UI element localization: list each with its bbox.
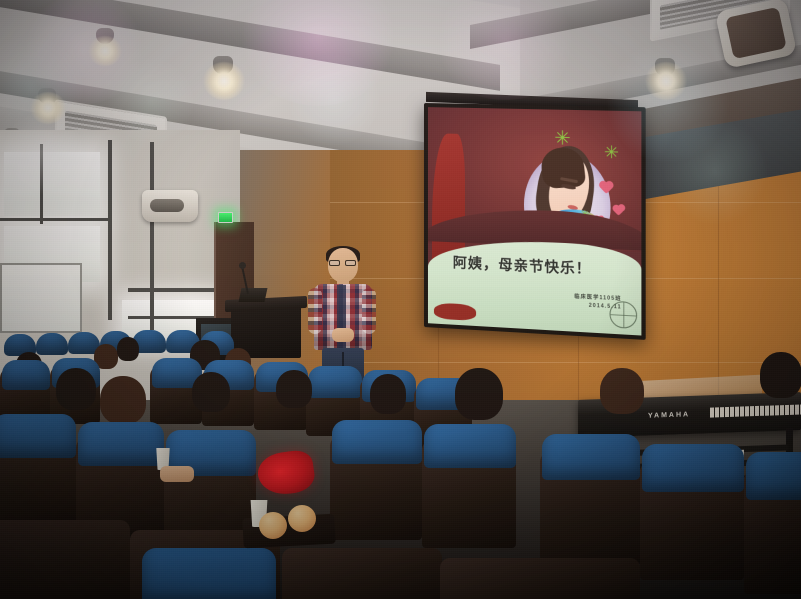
piano-brand-label: YAMAHA (648, 411, 690, 419)
seat-back (332, 420, 422, 464)
exit-sign-icon (218, 212, 233, 223)
audience-head (370, 374, 406, 414)
seat-back (424, 424, 516, 468)
slide-seal-icon (609, 301, 637, 329)
peach (259, 512, 287, 539)
audience-head (455, 368, 503, 420)
glasses-icon (329, 260, 357, 266)
seat-back (36, 333, 68, 355)
seat-back (542, 434, 640, 480)
seat-back (78, 422, 164, 466)
lecture-hall-photo: ✳ ✳ ✳ ✳ 阿姨，母亲节快乐！ 临床医学1105班 2014.5.11 (0, 0, 801, 599)
glasses-lens (329, 260, 340, 266)
flower-icon: ✳ (604, 144, 619, 162)
seat-back (308, 366, 362, 398)
projector-lens (150, 199, 184, 212)
audience-head (600, 368, 644, 414)
audience-hands (160, 466, 194, 482)
seat-back (142, 548, 276, 599)
projector-icon (142, 190, 198, 222)
peach (288, 505, 316, 532)
window-mullion (0, 218, 110, 221)
wood-seam (330, 362, 801, 363)
projection-screen: ✳ ✳ ✳ ✳ 阿姨，母亲节快乐！ 临床医学1105班 2014.5.11 (424, 103, 646, 340)
window-mullion (40, 144, 43, 224)
audience-head (100, 376, 146, 424)
window-mullion (150, 142, 154, 330)
presenter-arm-left (308, 288, 322, 334)
audience-head (117, 337, 139, 361)
spotlight-glow (30, 92, 66, 124)
glasses-lens (345, 260, 356, 266)
audience-head (760, 352, 801, 398)
audience-head (192, 372, 230, 412)
audience-head (276, 370, 312, 408)
whiteboard (0, 263, 82, 333)
spotlight-glow (88, 36, 122, 66)
seat-back (642, 444, 744, 492)
spotlight-glow (645, 62, 687, 100)
presenter-hands (332, 328, 354, 342)
seat-wood-back (0, 520, 130, 599)
flower-icon: ✳ (554, 129, 571, 149)
slide-surface: ✳ ✳ ✳ ✳ 阿姨，母亲节快乐！ 临床医学1105班 2014.5.11 (428, 107, 641, 335)
slide-banner (428, 237, 641, 336)
speaker-grille (725, 7, 787, 59)
window (4, 152, 100, 216)
presenter-arm-right (362, 288, 376, 334)
seat-wood-back (282, 548, 442, 599)
window-mullion (108, 140, 112, 320)
microphone-icon (239, 262, 246, 269)
spotlight-glow (203, 62, 245, 100)
seat-back (2, 360, 50, 390)
seat-back (0, 414, 76, 458)
audience-head (56, 368, 96, 410)
podium-laptop (239, 288, 268, 302)
illustration-bow (434, 303, 476, 321)
seat-back (746, 452, 801, 500)
seat-wood-back (440, 558, 640, 599)
